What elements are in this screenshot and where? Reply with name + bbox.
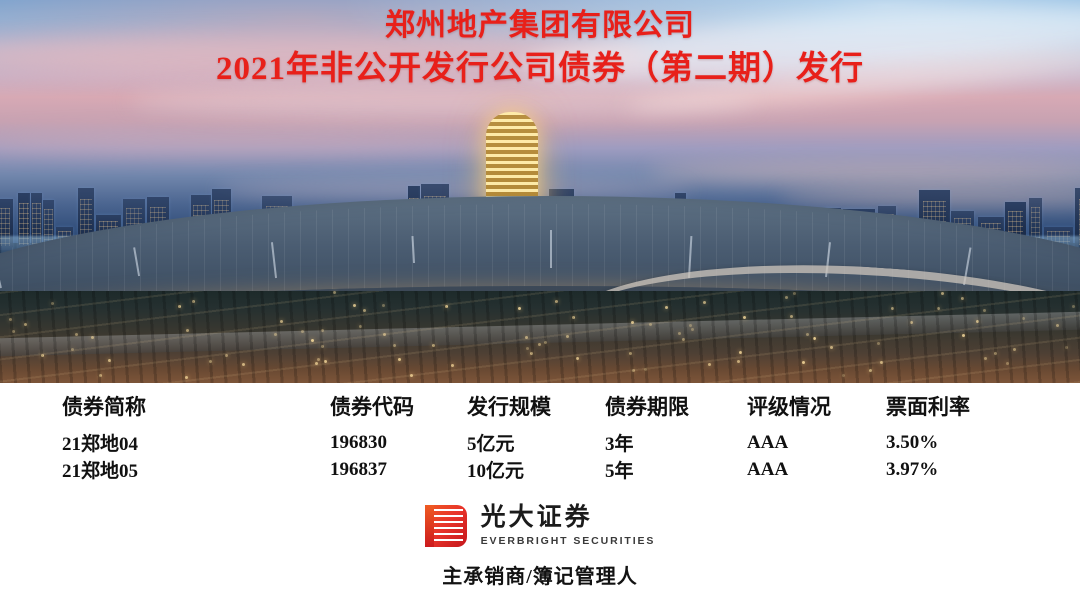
cell-bond-term: 3年 <box>605 429 747 456</box>
bond-issuance-poster: 郑州地产集团有限公司 2021年非公开发行公司债券（第二期）发行 债券简称 债券… <box>0 0 1080 608</box>
street-light <box>682 338 685 341</box>
header-rating: 评级情况 <box>747 383 886 429</box>
roof-mast <box>133 247 140 275</box>
cell-bond-code: 196837 <box>330 456 467 483</box>
street-light <box>961 297 964 300</box>
title-line-issuance: 2021年非公开发行公司债券（第二期）发行 <box>0 50 1080 89</box>
street-light <box>274 333 277 336</box>
street-light <box>869 369 872 372</box>
street-light <box>209 360 212 363</box>
street-light <box>1022 317 1025 320</box>
street-light <box>830 346 833 349</box>
street-light <box>382 304 385 307</box>
street-light <box>566 335 569 338</box>
street-light <box>629 352 632 355</box>
street-light <box>321 329 324 332</box>
table-row: 21郑地04 196830 5亿元 3年 AAA 3.50% <box>62 429 1062 456</box>
cell-issue-scale: 10亿元 <box>467 456 605 483</box>
foreground-ground <box>0 291 1080 383</box>
street-light <box>445 305 448 308</box>
poster-title: 郑州地产集团有限公司 2021年非公开发行公司债券（第二期）发行 <box>0 8 1080 89</box>
street-light <box>937 307 940 310</box>
roof-mast <box>550 230 552 268</box>
cell-bond-short-name: 21郑地04 <box>62 429 330 456</box>
logo-wordmark: 光大证券 EVERBRIGHT SECURITIES <box>481 505 656 547</box>
street-light <box>311 339 314 342</box>
street-light <box>785 296 788 299</box>
street-light <box>576 357 579 360</box>
title-line-company: 郑州地产集团有限公司 <box>0 8 1080 43</box>
street-light <box>572 316 575 319</box>
logo-name-cn: 光大证券 <box>481 505 656 530</box>
street-light <box>530 352 533 355</box>
street-light <box>186 329 189 332</box>
street-light <box>315 362 318 365</box>
header-coupon-rate: 票面利率 <box>886 383 1062 429</box>
street-light <box>708 363 711 366</box>
street-light <box>983 309 986 312</box>
street-light <box>71 348 74 351</box>
street-light <box>225 354 228 357</box>
street-light <box>891 307 894 310</box>
bond-details-table-area: 债券简称 债券代码 发行规模 债券期限 评级情况 票面利率 21郑地04 196… <box>0 383 1080 498</box>
cell-coupon-rate: 3.97% <box>886 456 1062 483</box>
street-light <box>353 304 356 307</box>
street-light <box>689 324 692 327</box>
logo-name-en: EVERBRIGHT SECURITIES <box>481 536 656 547</box>
header-issue-scale: 发行规模 <box>467 383 605 429</box>
street-light <box>41 354 44 357</box>
cell-rating: AAA <box>747 456 886 483</box>
street-light <box>665 306 668 309</box>
street-light <box>994 352 997 355</box>
street-light <box>525 336 528 339</box>
header-bond-code: 债券代码 <box>330 383 467 429</box>
street-light <box>632 369 635 372</box>
street-light <box>649 323 652 326</box>
street-light <box>880 361 883 364</box>
street-light <box>703 301 706 304</box>
street-light <box>518 307 521 310</box>
street-light <box>359 325 362 328</box>
street-light <box>877 342 880 345</box>
street-light <box>91 336 94 339</box>
everbright-securities-logo-icon <box>425 505 467 547</box>
street-light <box>398 358 401 361</box>
street-light <box>393 344 396 347</box>
street-light <box>75 333 78 336</box>
street-light <box>321 345 324 348</box>
street-light <box>806 333 809 336</box>
street-light <box>12 330 15 333</box>
street-light <box>737 360 740 363</box>
street-light <box>301 330 304 333</box>
street-light <box>526 347 529 350</box>
street-light <box>410 374 413 377</box>
street-light <box>99 374 102 377</box>
street-light <box>842 374 845 377</box>
street-light <box>910 321 913 324</box>
street-light <box>1006 362 1009 365</box>
street-light <box>108 359 111 362</box>
street-light <box>984 357 987 360</box>
street-light <box>544 341 547 344</box>
underwriter-logo: 光大证券 EVERBRIGHT SECURITIES <box>425 500 656 552</box>
table-header-row: 债券简称 债券代码 发行规模 债券期限 评级情况 票面利率 <box>62 383 1062 429</box>
street-light <box>324 360 327 363</box>
cell-bond-code: 196830 <box>330 429 467 456</box>
street-light <box>24 323 27 326</box>
roof-mast <box>271 242 277 278</box>
street-light <box>432 344 435 347</box>
bond-details-table: 债券简称 债券代码 发行规模 债券期限 评级情况 票面利率 21郑地04 196… <box>62 383 1062 483</box>
cell-coupon-rate: 3.50% <box>886 429 1062 456</box>
cell-bond-short-name: 21郑地05 <box>62 456 330 483</box>
street-light <box>941 292 944 295</box>
street-light <box>790 315 793 318</box>
street-light <box>192 300 195 303</box>
street-light <box>451 364 454 367</box>
street-light <box>1072 305 1075 308</box>
street-light <box>363 309 366 312</box>
street-light <box>644 368 647 371</box>
surface-road <box>0 311 1080 357</box>
poster-footer: 光大证券 EVERBRIGHT SECURITIES 主承销商/簿记管理人 <box>0 500 1080 589</box>
street-light <box>976 320 979 323</box>
street-light <box>280 320 283 323</box>
table-row: 21郑地05 196837 10亿元 5年 AAA 3.97% <box>62 456 1062 483</box>
street-light <box>383 333 386 336</box>
street-light <box>1056 324 1059 327</box>
street-light <box>1065 346 1068 349</box>
street-light <box>739 351 742 354</box>
street-light <box>962 334 965 337</box>
street-light <box>813 337 816 340</box>
street-light <box>793 292 796 295</box>
street-light <box>51 302 54 305</box>
cell-issue-scale: 5亿元 <box>467 429 605 456</box>
underwriter-caption: 主承销商/簿记管理人 <box>0 560 1080 589</box>
street-light <box>333 291 336 294</box>
roof-mast <box>411 236 415 263</box>
street-light <box>743 316 746 319</box>
street-light <box>1013 348 1016 351</box>
street-light <box>678 332 681 335</box>
street-light <box>178 305 181 308</box>
cell-bond-term: 5年 <box>605 456 747 483</box>
street-light <box>9 318 12 321</box>
cell-rating: AAA <box>747 429 886 456</box>
street-light <box>691 328 694 331</box>
header-bond-short-name: 债券简称 <box>62 383 330 429</box>
street-light <box>317 358 320 361</box>
street-light <box>631 321 634 324</box>
roof-mast <box>0 254 2 289</box>
street-light <box>242 363 245 366</box>
street-light <box>538 343 541 346</box>
header-bond-term: 债券期限 <box>605 383 747 429</box>
street-light <box>555 300 558 303</box>
street-light <box>185 376 188 379</box>
street-light <box>802 361 805 364</box>
